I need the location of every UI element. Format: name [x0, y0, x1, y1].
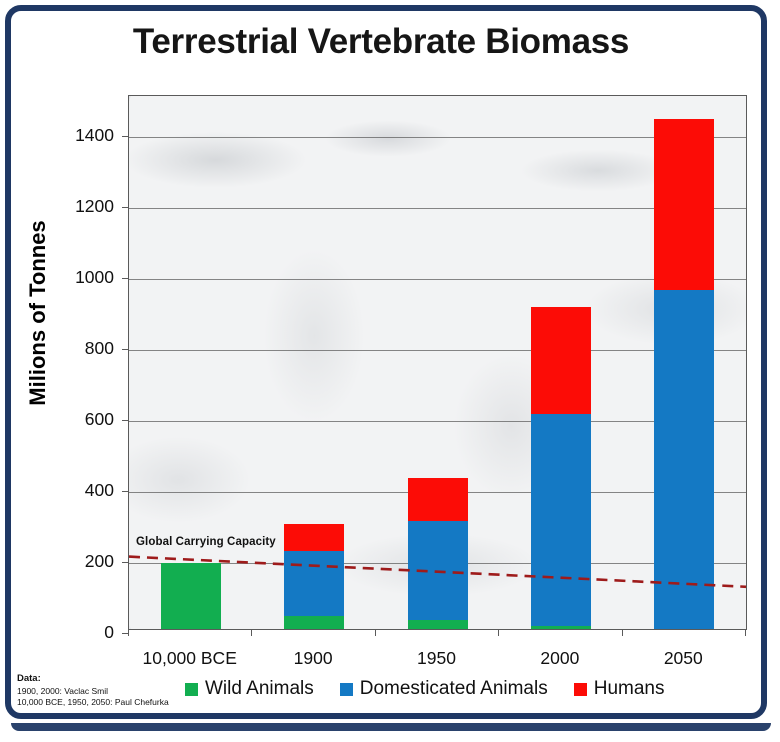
legend-swatch-icon	[340, 683, 353, 696]
x-tick-mark	[128, 629, 129, 636]
frame-shadow	[11, 723, 771, 731]
legend-item-wild-animals[interactable]: Wild Animals	[185, 678, 314, 700]
y-axis-title: Milions of Tonnes	[25, 163, 51, 463]
y-tick-mark	[122, 136, 129, 137]
x-tick-label: 1900	[243, 648, 383, 669]
y-tick-label: 1400	[52, 125, 114, 146]
plot-area: Global Carrying Capacity	[128, 95, 747, 630]
legend-label: Wild Animals	[205, 678, 314, 700]
y-tick-mark	[122, 207, 129, 208]
x-tick-label: 1950	[367, 648, 507, 669]
y-tick-label: 400	[52, 480, 114, 501]
legend-label: Domesticated Animals	[360, 678, 548, 700]
data-credit: Data: 1900, 2000: Vaclac Smil10,000 BCE,…	[17, 673, 169, 709]
y-tick-mark	[122, 420, 129, 421]
carrying-capacity-line	[129, 96, 746, 629]
y-tick-label: 200	[52, 551, 114, 572]
legend-swatch-icon	[185, 683, 198, 696]
x-tick-mark	[375, 629, 376, 636]
y-tick-mark	[122, 491, 129, 492]
legend-swatch-icon	[574, 683, 587, 696]
carrying-capacity-label: Global Carrying Capacity	[134, 536, 278, 548]
x-tick-label: 2050	[613, 648, 753, 669]
y-tick-mark	[122, 562, 129, 563]
data-credit-line: 10,000 BCE, 1950, 2050: Paul Chefurka	[17, 697, 169, 708]
y-tick-label: 1200	[52, 196, 114, 217]
x-tick-label: 2000	[490, 648, 630, 669]
legend-item-humans[interactable]: Humans	[574, 678, 665, 700]
page-title: Terrestrial Vertebrate Biomass	[0, 22, 762, 62]
legend: Wild AnimalsDomesticated AnimalsHumans	[185, 678, 664, 700]
y-tick-label: 600	[52, 409, 114, 430]
y-tick-mark	[122, 349, 129, 350]
y-tick-mark	[122, 278, 129, 279]
x-tick-mark	[251, 629, 252, 636]
y-tick-label: 1000	[52, 267, 114, 288]
x-tick-label: 10,000 BCE	[120, 648, 260, 669]
x-tick-mark	[745, 629, 746, 636]
data-credit-lines: 1900, 2000: Vaclac Smil10,000 BCE, 1950,…	[17, 686, 169, 709]
y-tick-label: 0	[52, 622, 114, 643]
y-tick-label: 800	[52, 338, 114, 359]
data-credit-line: 1900, 2000: Vaclac Smil	[17, 686, 169, 697]
legend-label: Humans	[594, 678, 665, 700]
x-tick-mark	[622, 629, 623, 636]
x-tick-mark	[498, 629, 499, 636]
data-credit-heading: Data:	[17, 673, 169, 686]
legend-item-domesticated-animals[interactable]: Domesticated Animals	[340, 678, 548, 700]
